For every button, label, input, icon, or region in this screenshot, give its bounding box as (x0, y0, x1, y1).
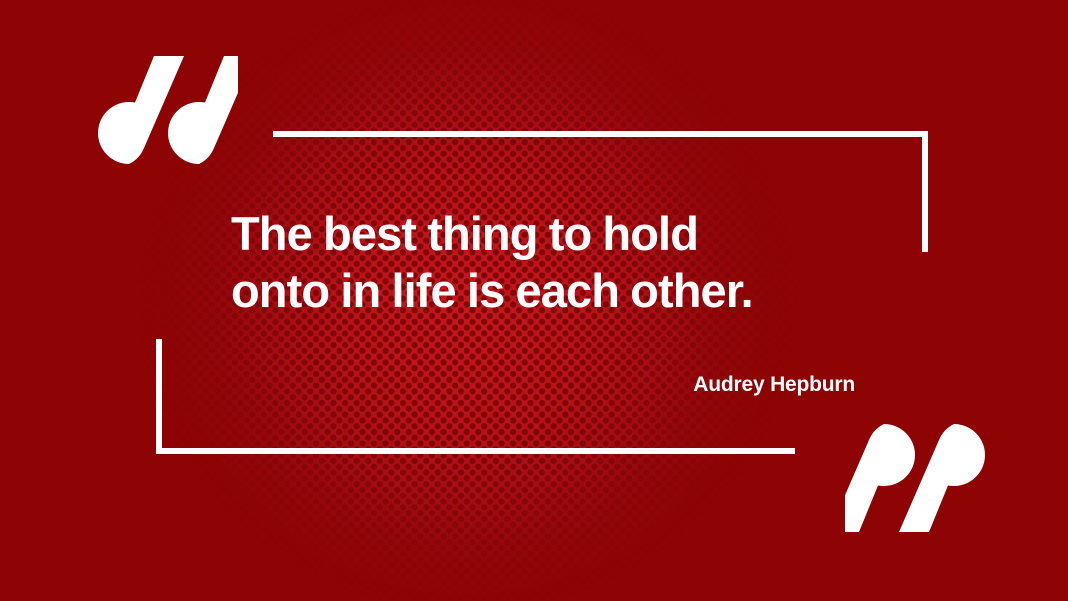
quote-card: The best thing to hold onto in life is e… (0, 0, 1068, 601)
quote-text: The best thing to hold onto in life is e… (231, 205, 871, 319)
frame-bottom-rule (156, 448, 795, 454)
open-quote-mark-icon (98, 56, 238, 164)
quote-attribution: Audrey Hepburn (231, 373, 855, 397)
frame-right-rule (922, 131, 928, 252)
close-quote-mark-icon (845, 424, 985, 532)
frame-left-rule (156, 339, 162, 454)
frame-top-rule (273, 131, 928, 137)
